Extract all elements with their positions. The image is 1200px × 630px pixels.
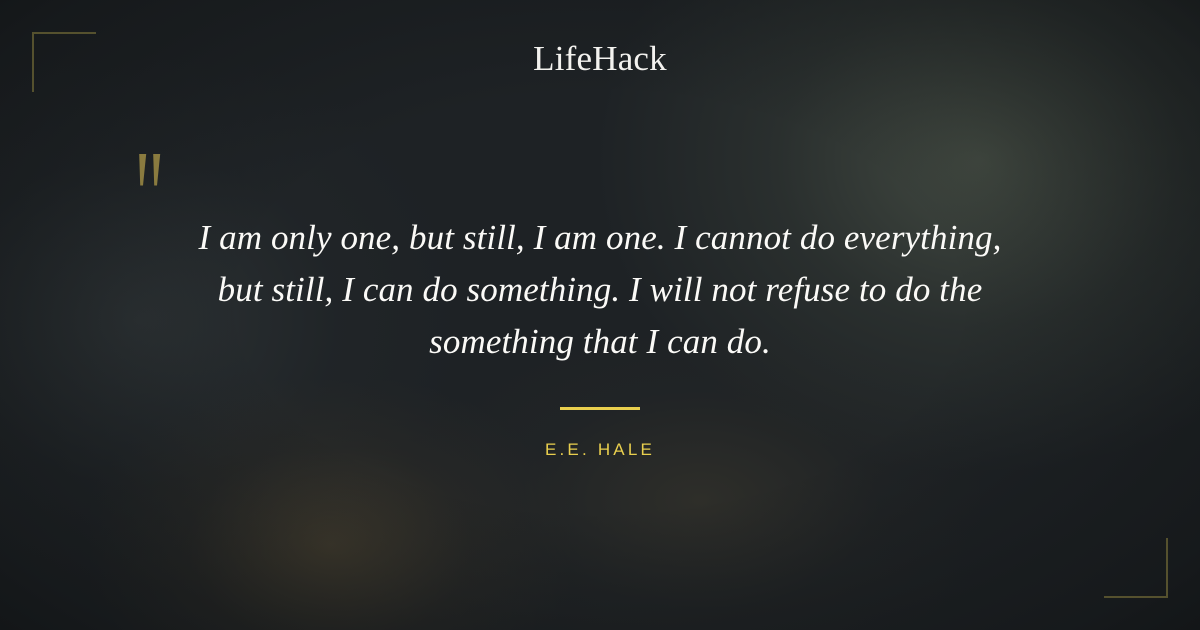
background-glow-warm-bottom-left xyxy=(90,380,570,630)
quote-author: E.E. HALE xyxy=(0,440,1200,460)
brand-logo: LifeHack xyxy=(0,41,1200,76)
background-glow-warm-center xyxy=(420,330,980,630)
quote-line: I am only one, but still, I am one. I ca… xyxy=(100,212,1100,264)
quote-card: LifeHack I am only one, but still, I am … xyxy=(0,0,1200,630)
author-divider-icon xyxy=(560,407,640,410)
quote-block: I am only one, but still, I am one. I ca… xyxy=(100,212,1100,368)
corner-bracket-bottom-right-icon xyxy=(1104,538,1168,598)
quote-line: but still, I can do something. I will no… xyxy=(100,264,1100,316)
quote-line: something that I can do. xyxy=(100,316,1100,368)
brand-logo-text: LifeHack xyxy=(533,39,667,78)
double-quote-icon xyxy=(133,152,173,190)
